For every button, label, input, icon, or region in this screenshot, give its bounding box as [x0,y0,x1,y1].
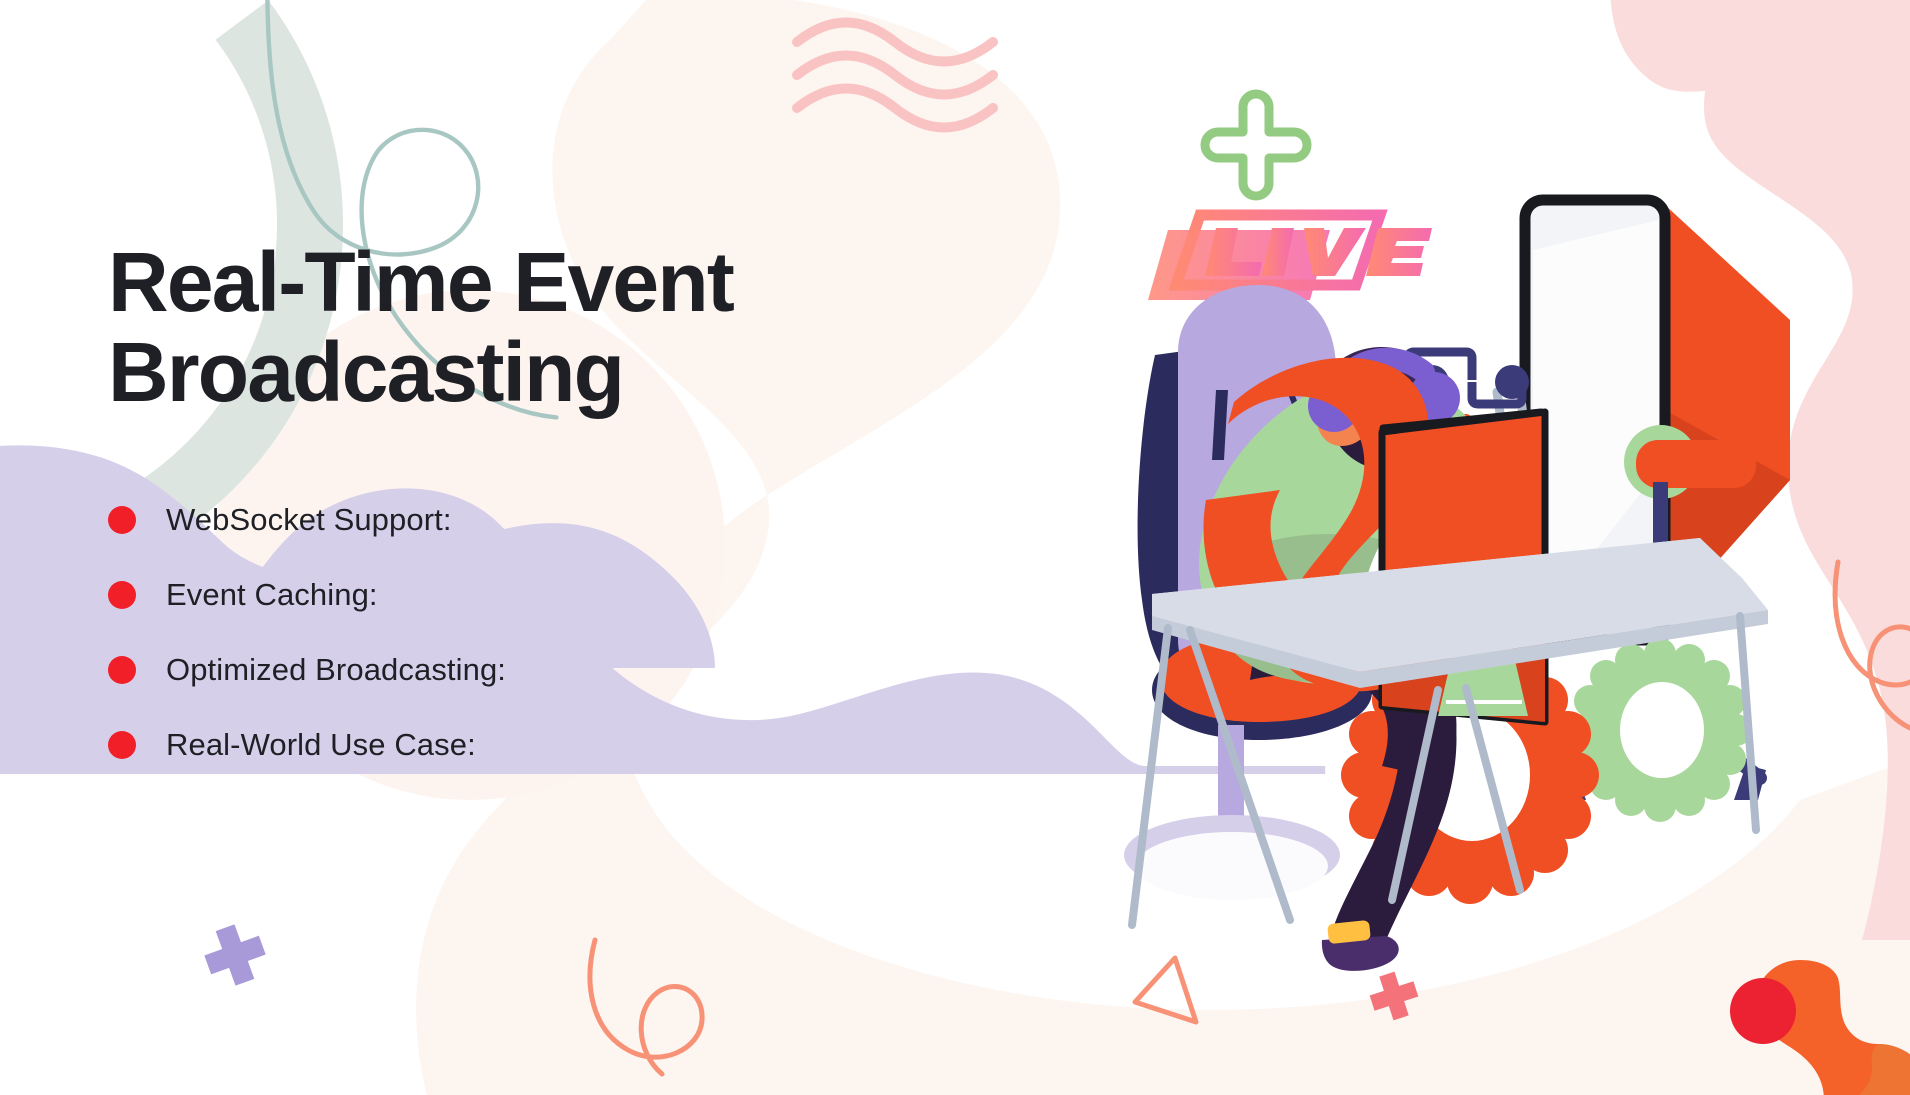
bullet-label: WebSocket Support: [166,502,452,538]
page-title: Real-Time Event Broadcasting [108,238,1008,418]
feature-bullet-list: WebSocket Support: Event Caching: Optimi… [108,482,506,782]
bullet-label: Event Caching: [166,577,378,613]
list-item: Real-World Use Case: [108,707,506,782]
bullet-dot-icon [108,506,136,534]
bullet-label: Real-World Use Case: [166,727,476,763]
slide-canvas: Real-Time Event Broadcasting WebSocket S… [0,0,1910,1095]
bullet-label: Optimized Broadcasting: [166,652,506,688]
slide-content: Real-Time Event Broadcasting WebSocket S… [0,0,1910,1095]
bullet-dot-icon [108,581,136,609]
bullet-dot-icon [108,731,136,759]
list-item: WebSocket Support: [108,482,506,557]
bullet-dot-icon [108,656,136,684]
list-item: Optimized Broadcasting: [108,632,506,707]
list-item: Event Caching: [108,557,506,632]
